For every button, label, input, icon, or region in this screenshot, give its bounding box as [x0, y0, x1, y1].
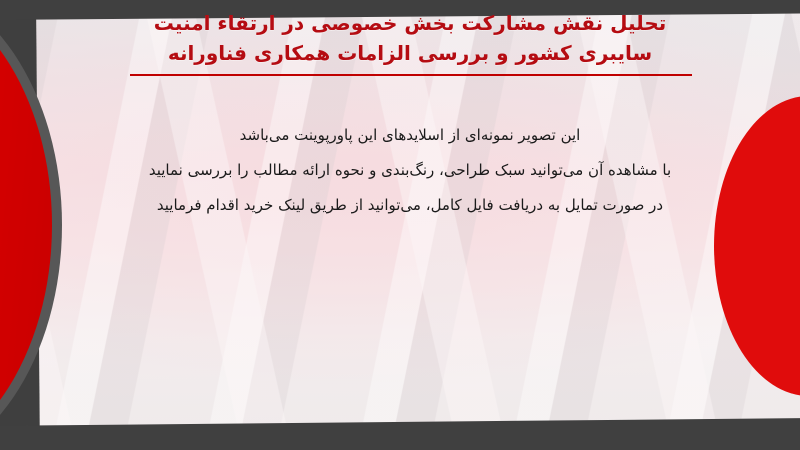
- slide-title-line-1: تحلیل نقش مشارکت بخش خصوصی در ارتقاء امن…: [120, 8, 700, 38]
- presentation-slide: تحلیل نقش مشارکت بخش خصوصی در ارتقاء امن…: [0, 0, 800, 450]
- slide-body-line-2: با مشاهده آن می‌توانید سبک طراحی، رنگ‌بن…: [120, 153, 700, 188]
- slide-title-line-2: سایبری کشور و بررسی الزامات همکاری فناور…: [120, 38, 700, 68]
- slide-content: تحلیل نقش مشارکت بخش خصوصی در ارتقاء امن…: [0, 0, 800, 450]
- slide-title: تحلیل نقش مشارکت بخش خصوصی در ارتقاء امن…: [120, 8, 700, 68]
- slide-body: این تصویر نمونه‌ای از اسلایدهای این پاور…: [120, 118, 700, 223]
- slide-body-line-3: در صورت تمایل به دریافت فایل کامل، می‌تو…: [120, 188, 700, 223]
- title-underline-rule: [130, 74, 692, 76]
- slide-body-line-1: این تصویر نمونه‌ای از اسلایدهای این پاور…: [120, 118, 700, 153]
